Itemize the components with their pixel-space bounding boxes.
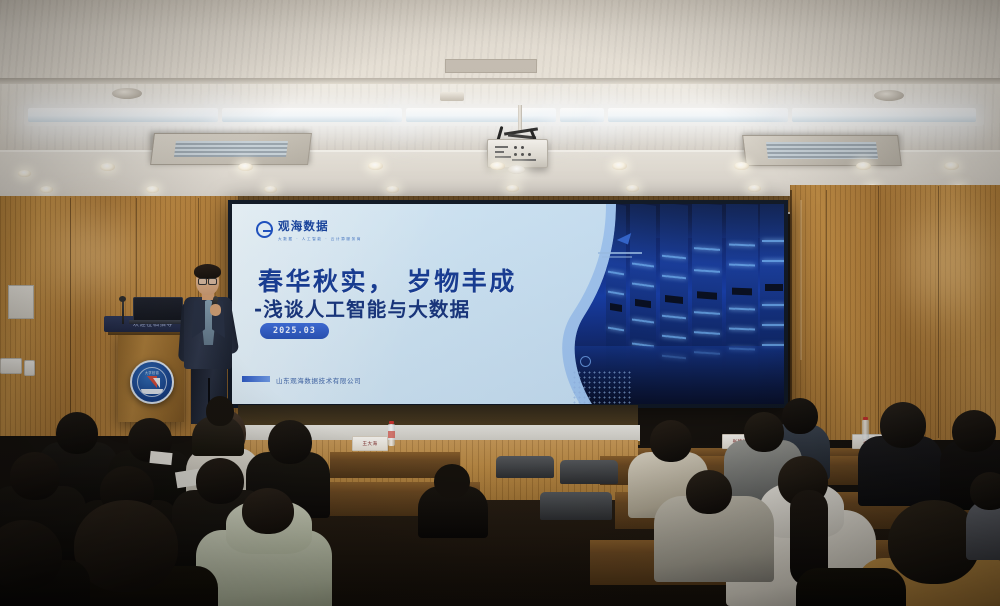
wall-switch-plate [24, 360, 35, 376]
recessed-downlight [734, 162, 749, 170]
emblem-text: 大学校徽 [132, 370, 172, 375]
recessed-downlight [944, 162, 959, 170]
ac-vent [150, 133, 312, 165]
projector-lens-icon [508, 165, 525, 174]
paper-notes [149, 451, 172, 465]
recessed-downlight [238, 163, 253, 171]
water-bottle [862, 420, 869, 441]
wall-highlight [800, 200, 802, 360]
linear-light-strip [28, 108, 218, 122]
seat-back [560, 460, 618, 484]
recessed-downlight [264, 186, 277, 193]
slide-date-badge: 2025.03 [260, 323, 329, 339]
seat-back [496, 456, 554, 478]
podium-laptop-base [129, 320, 185, 324]
slide-ring-icon [580, 356, 591, 367]
logo-g-icon [256, 221, 273, 238]
name-placard: 王大海 [352, 436, 388, 451]
wall-panel-seam [878, 186, 879, 438]
presenter-hair [194, 264, 221, 279]
recessed-downlight [146, 186, 159, 193]
recessed-downlight [386, 186, 399, 193]
slide-logo: 观海数据 大数据 · 人工智能 · 云计算服务商 [256, 217, 362, 242]
wall-panel-seam [70, 198, 71, 434]
university-emblem-icon: 大学校徽 [130, 360, 174, 404]
bottle-cap-icon [863, 417, 868, 420]
slide-subtitle: -浅谈人工智能与大数据 [254, 293, 470, 322]
linear-light-strip [222, 108, 402, 122]
ceiling-speaker-icon [112, 88, 142, 99]
gooseneck-mic-stand [122, 300, 124, 324]
projection-screen[interactable]: 观海数据 大数据 · 人工智能 · 云计算服务商 春华秋实， 岁物丰成 -浅谈人… [232, 204, 784, 404]
linear-light-strip [792, 108, 976, 122]
wall-light-glow [880, 195, 1000, 335]
ceiling-access-hatch [445, 59, 537, 73]
recessed-downlight [856, 162, 871, 170]
wall-notice-panel [8, 285, 34, 319]
presenter-hand [210, 304, 221, 316]
recessed-downlight [626, 185, 639, 192]
eyeglasses-icon [198, 278, 217, 283]
wall-panel-seam [826, 190, 827, 438]
wall-switch-plate [0, 358, 22, 374]
recessed-downlight [506, 185, 519, 192]
logo-company-name: 观海数据 [278, 219, 329, 233]
slide-footer-text: 山东观海数据技术有限公司 [276, 375, 361, 385]
recessed-downlight [490, 162, 505, 170]
linear-light-strip [608, 108, 788, 122]
gooseneck-mic-head-icon [119, 296, 126, 302]
linear-light-strip [560, 108, 604, 122]
recessed-downlight [100, 163, 115, 171]
recessed-downlight [18, 170, 31, 177]
slide-footer-bar [242, 376, 270, 382]
recessed-downlight [368, 162, 383, 170]
logo-tagline: 大数据 · 人工智能 · 云计算服务商 [278, 237, 362, 242]
linear-light-strip [406, 108, 556, 122]
recessed-downlight [612, 162, 627, 170]
lecture-hall-photo: 观海数据 大数据 · 人工智能 · 云计算服务商 春华秋实， 岁物丰成 -浅谈人… [0, 0, 1000, 606]
ceiling-sensor-icon [440, 92, 464, 101]
recessed-downlight [748, 185, 761, 192]
ac-vent [742, 135, 902, 166]
seat-back [540, 492, 612, 520]
bottle-cap-icon [389, 421, 394, 424]
placard-text: 王大海 [363, 441, 378, 447]
slide-dot-grid [572, 370, 632, 404]
bottle-label [388, 431, 395, 438]
ceiling-speaker-icon [874, 90, 904, 101]
slide-deco-line [602, 256, 632, 258]
wall-panel-seam [938, 186, 939, 438]
slide-deco-line [598, 252, 642, 254]
recessed-downlight [40, 186, 53, 193]
